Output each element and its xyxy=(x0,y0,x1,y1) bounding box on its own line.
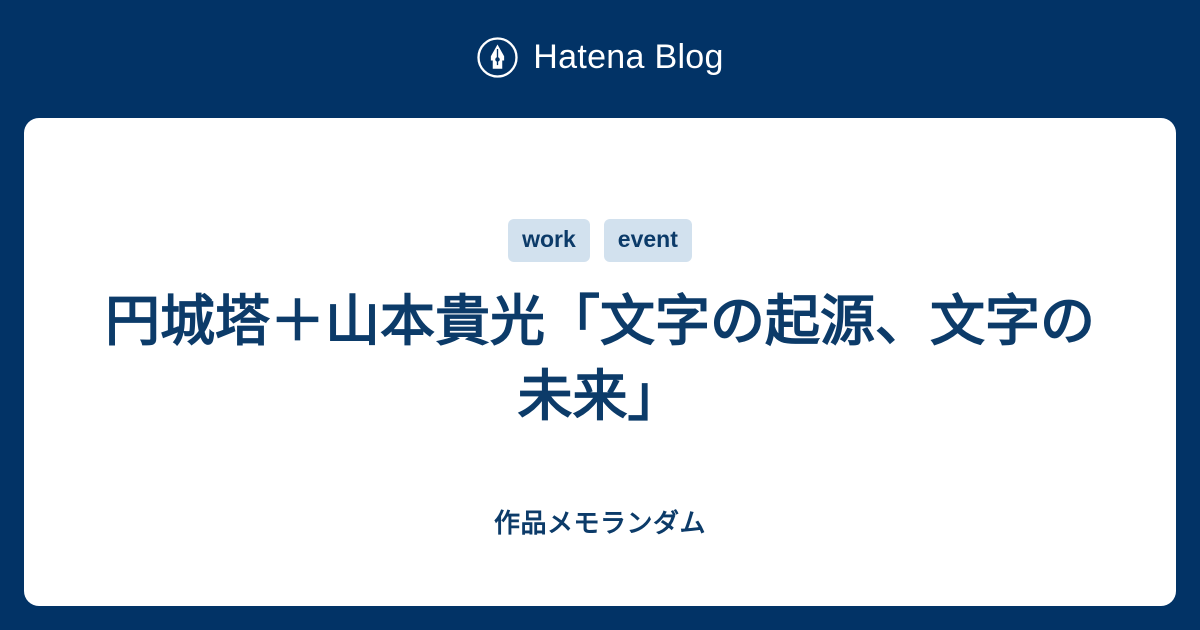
tag-item-event[interactable]: event xyxy=(604,219,692,262)
entry-card: work event 円城塔＋山本貴光「文字の起源、文字の未来」 作品メモランダ… xyxy=(24,118,1176,606)
entry-title: 円城塔＋山本貴光「文字の起源、文字の未来」 xyxy=(95,284,1105,434)
blog-name[interactable]: 作品メモランダム xyxy=(24,510,1176,536)
tag-item-work[interactable]: work xyxy=(508,219,590,262)
header-brand-bar: Hatena Blog xyxy=(0,0,1200,118)
hatena-blog-wordmark: Hatena Blog xyxy=(533,40,723,74)
fountain-pen-nib-in-circle-icon xyxy=(476,36,519,79)
og-image-canvas: Hatena Blog work event 円城塔＋山本貴光「文字の起源、文字… xyxy=(0,0,1200,630)
hatena-blog-logo[interactable]: Hatena Blog xyxy=(476,36,723,79)
tag-list: work event xyxy=(508,219,692,262)
